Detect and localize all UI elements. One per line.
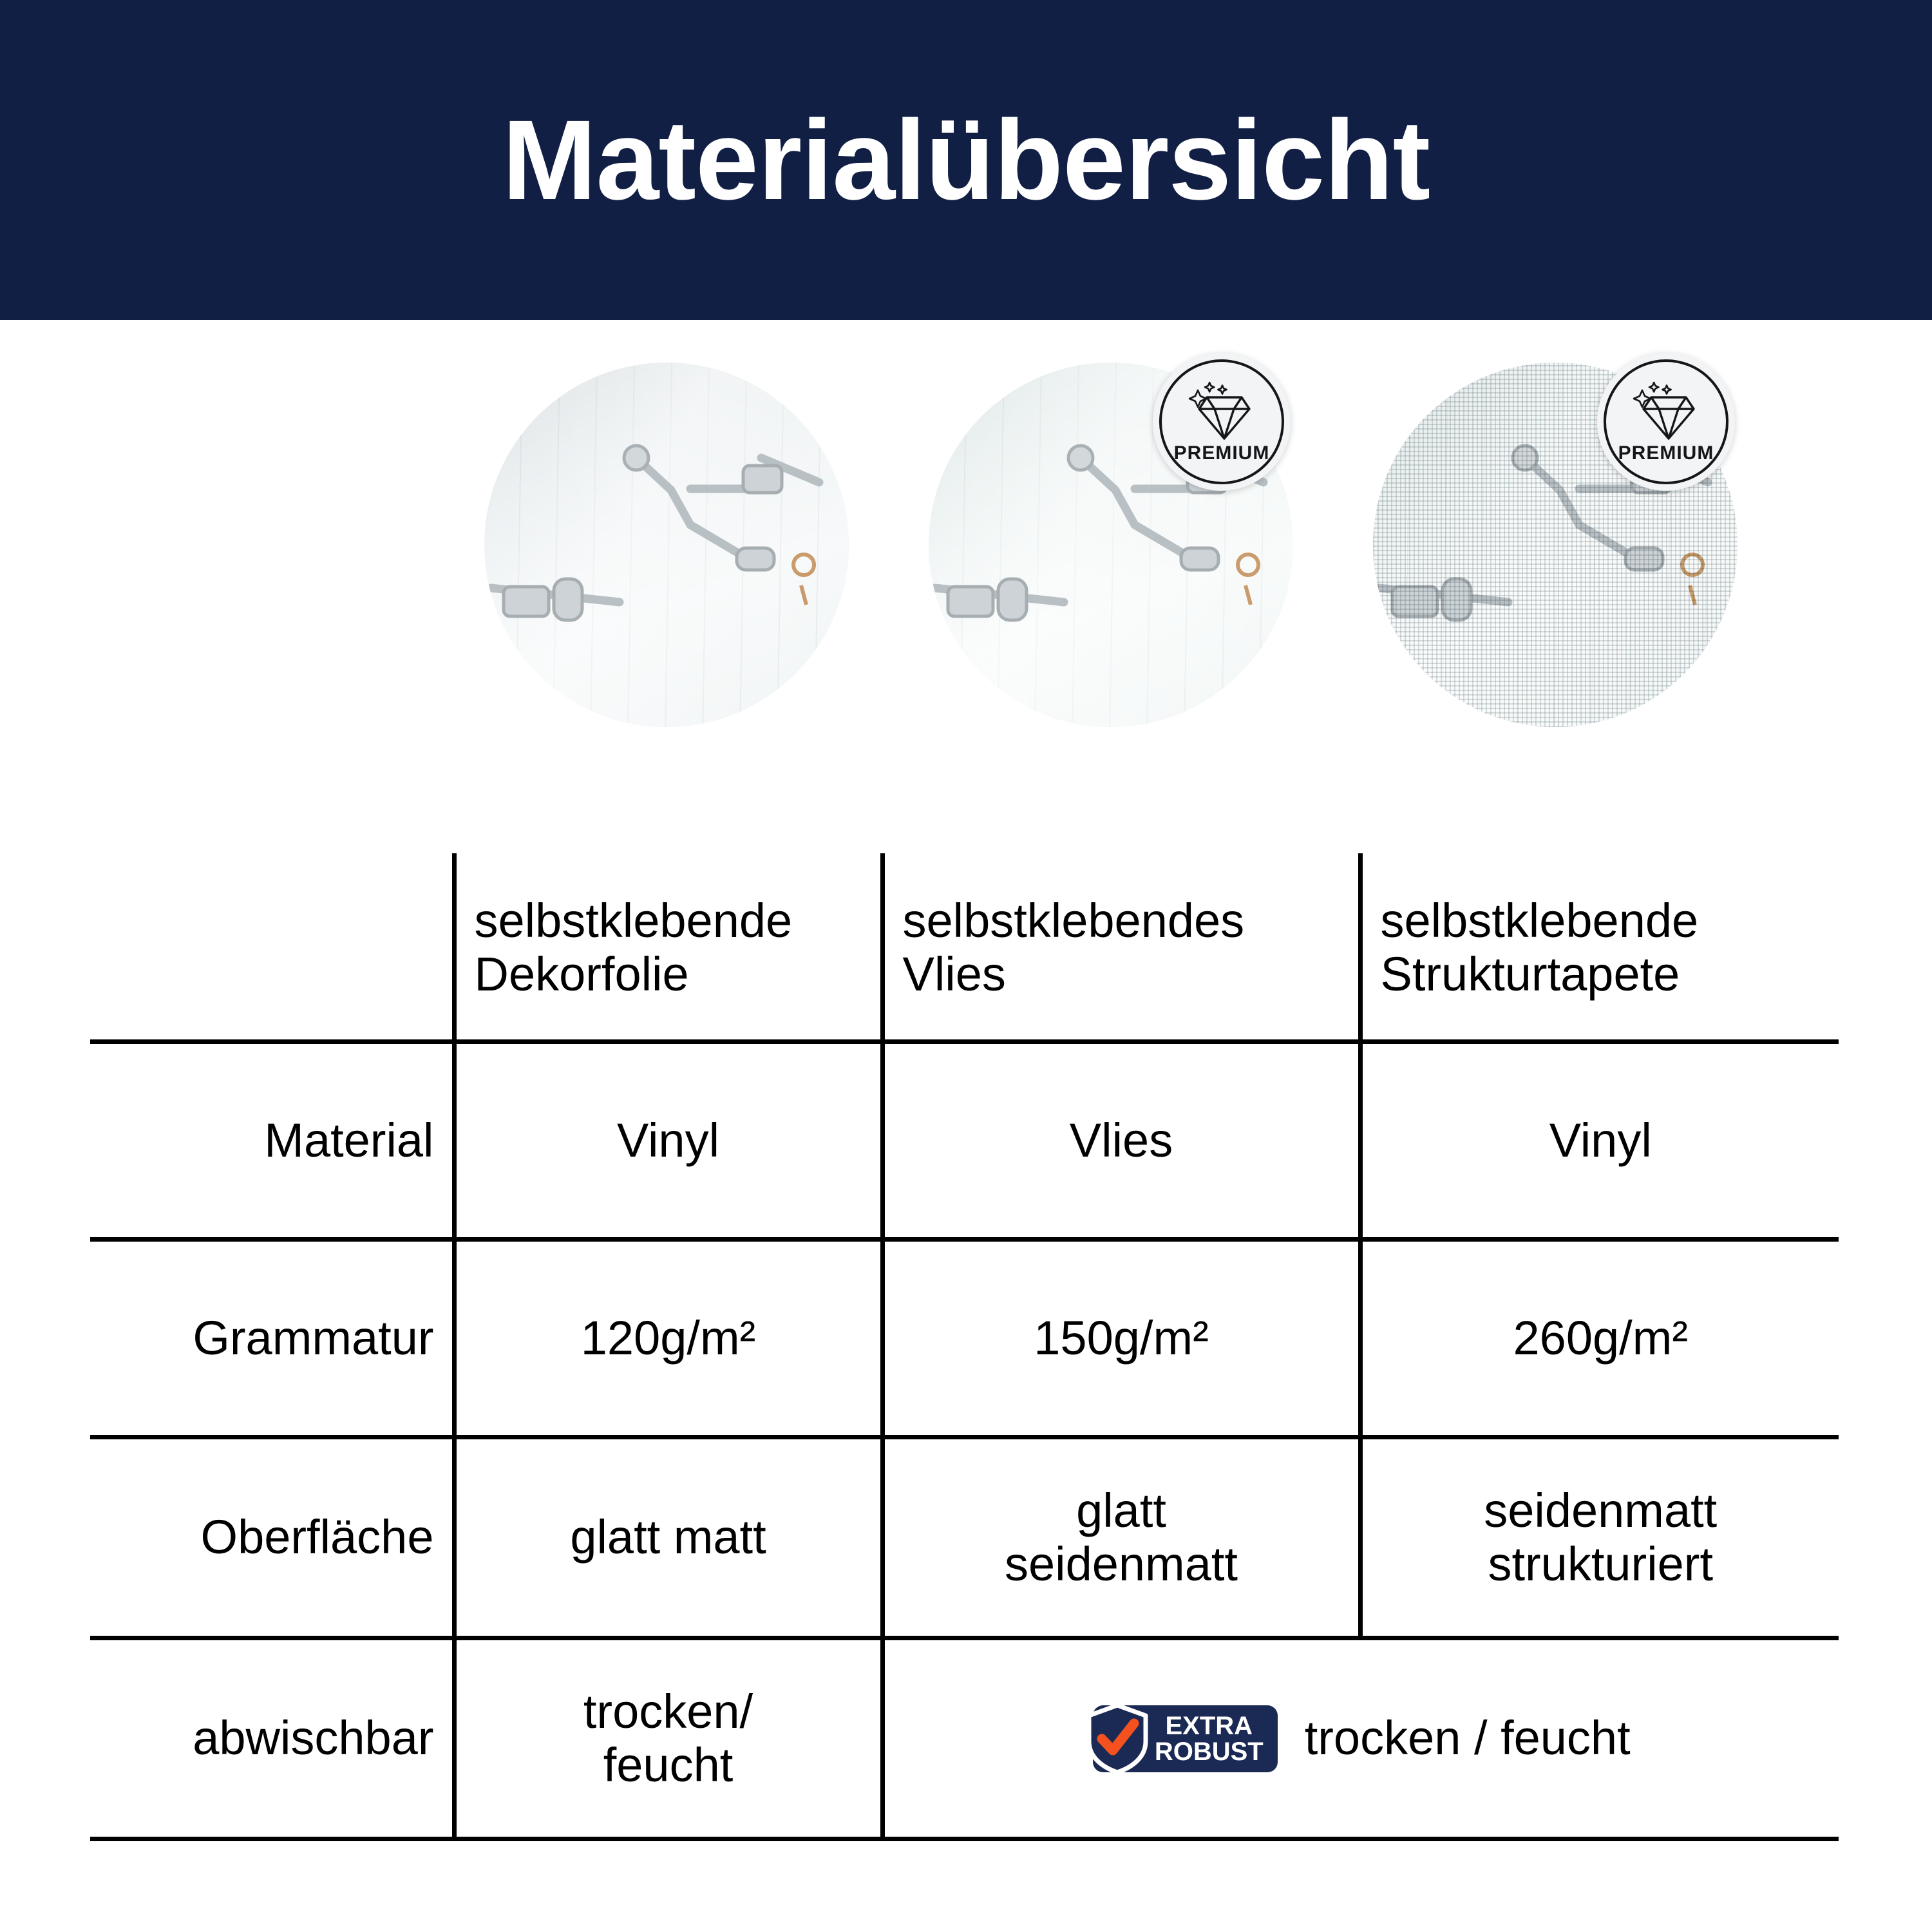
row-label-grammatur: Grammatur: [90, 1240, 454, 1437]
table-row-grammatur: Grammatur 120g/m² 150g/m² 260g/m²: [90, 1240, 1839, 1437]
extra-robust-line-1: EXTRA: [1155, 1713, 1264, 1739]
diamond-icon: [1631, 381, 1701, 442]
row-label-abwischbar: abwischbar: [90, 1638, 454, 1839]
cell-abwischbar-value: trocken / feucht: [1305, 1712, 1631, 1765]
hatch-hardware-illustration: [484, 363, 849, 727]
premium-badge-label: PREMIUM: [1618, 444, 1714, 463]
cell-material-dekorfolie: Vinyl: [454, 1042, 882, 1240]
page-title: Materialübersicht: [502, 104, 1430, 217]
table-row-oberflaeche: Oberfläche glatt matt glattseidenmatt se…: [90, 1437, 1839, 1638]
cell-oberflaeche-strukturtapete: seidenmattstrukturiert: [1360, 1437, 1839, 1638]
page-header: Materialübersicht: [0, 0, 1932, 320]
premium-badge-vlies: PREMIUM: [1153, 353, 1291, 491]
header-cell-dekorfolie: selbstklebende Dekorfolie: [454, 853, 882, 1042]
table-row-abwischbar: abwischbar trocken/feucht EXTRA ROBUST: [90, 1638, 1839, 1839]
row-label-material: Material: [90, 1042, 454, 1240]
table-header-row: selbstklebende Dekorfolie selbstklebende…: [90, 853, 1839, 1042]
cell-material-strukturtapete: Vinyl: [1360, 1042, 1839, 1240]
cell-material-vlies: Vlies: [882, 1042, 1360, 1240]
cell-oberflaeche-dekorfolie: glatt matt: [454, 1437, 882, 1638]
cell-abwischbar-dekorfolie: trocken/feucht: [454, 1638, 882, 1839]
swatch-image-dekorfolie: [484, 363, 849, 727]
diamond-icon: [1186, 381, 1257, 442]
swatch-dekorfolie[interactable]: [484, 363, 849, 727]
cell-oberflaeche-vlies: glattseidenmatt: [882, 1437, 1360, 1638]
cell-grammatur-dekorfolie: 120g/m²: [454, 1240, 882, 1437]
header-cell-vlies: selbstklebendes Vlies: [882, 853, 1360, 1042]
table-row-material: Material Vinyl Vlies Vinyl: [90, 1042, 1839, 1240]
cell-grammatur-strukturtapete: 260g/m²: [1360, 1240, 1839, 1437]
cell-abwischbar-vlies-strukturtapete: EXTRA ROBUST trocken / feucht: [882, 1638, 1839, 1839]
premium-badge-strukturtapete: PREMIUM: [1597, 353, 1735, 491]
cell-grammatur-vlies: 150g/m²: [882, 1240, 1360, 1437]
row-label-oberflaeche: Oberfläche: [90, 1437, 454, 1638]
extra-robust-line-2: ROBUST: [1155, 1739, 1264, 1765]
material-comparison-table: selbstklebende Dekorfolie selbstklebende…: [90, 853, 1839, 1813]
header-cell-strukturtapete: selbstklebende Strukturtapete: [1360, 853, 1839, 1042]
extra-robust-badge: EXTRA ROBUST: [1093, 1705, 1278, 1772]
premium-badge-label: PREMIUM: [1174, 444, 1270, 463]
shield-check-icon: [1084, 1701, 1151, 1776]
header-cell-empty: [90, 853, 454, 1042]
